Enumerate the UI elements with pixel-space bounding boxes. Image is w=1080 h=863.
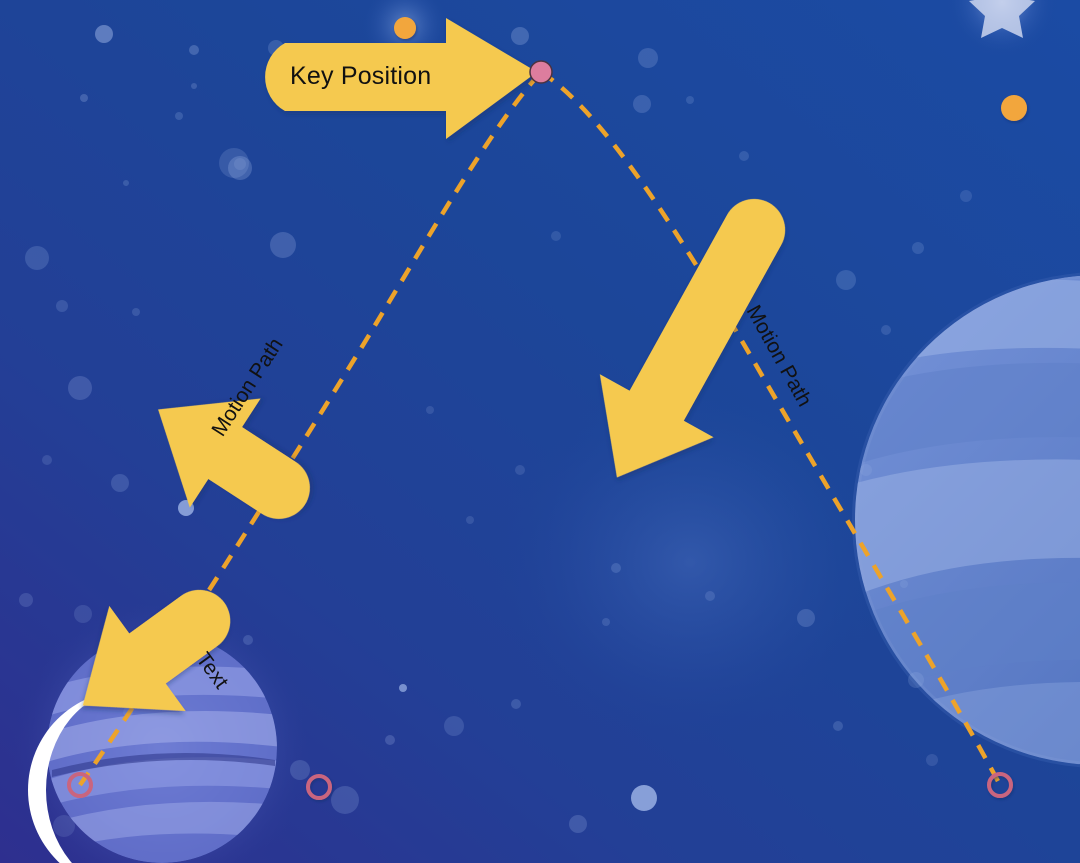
apex-keyframe-marker[interactable] — [530, 61, 552, 83]
glow-dot-right — [1001, 95, 1027, 121]
motion-path-scene — [0, 0, 1080, 863]
illustration-canvas: Key Position Motion Path Motion Path Tex… — [0, 0, 1080, 863]
